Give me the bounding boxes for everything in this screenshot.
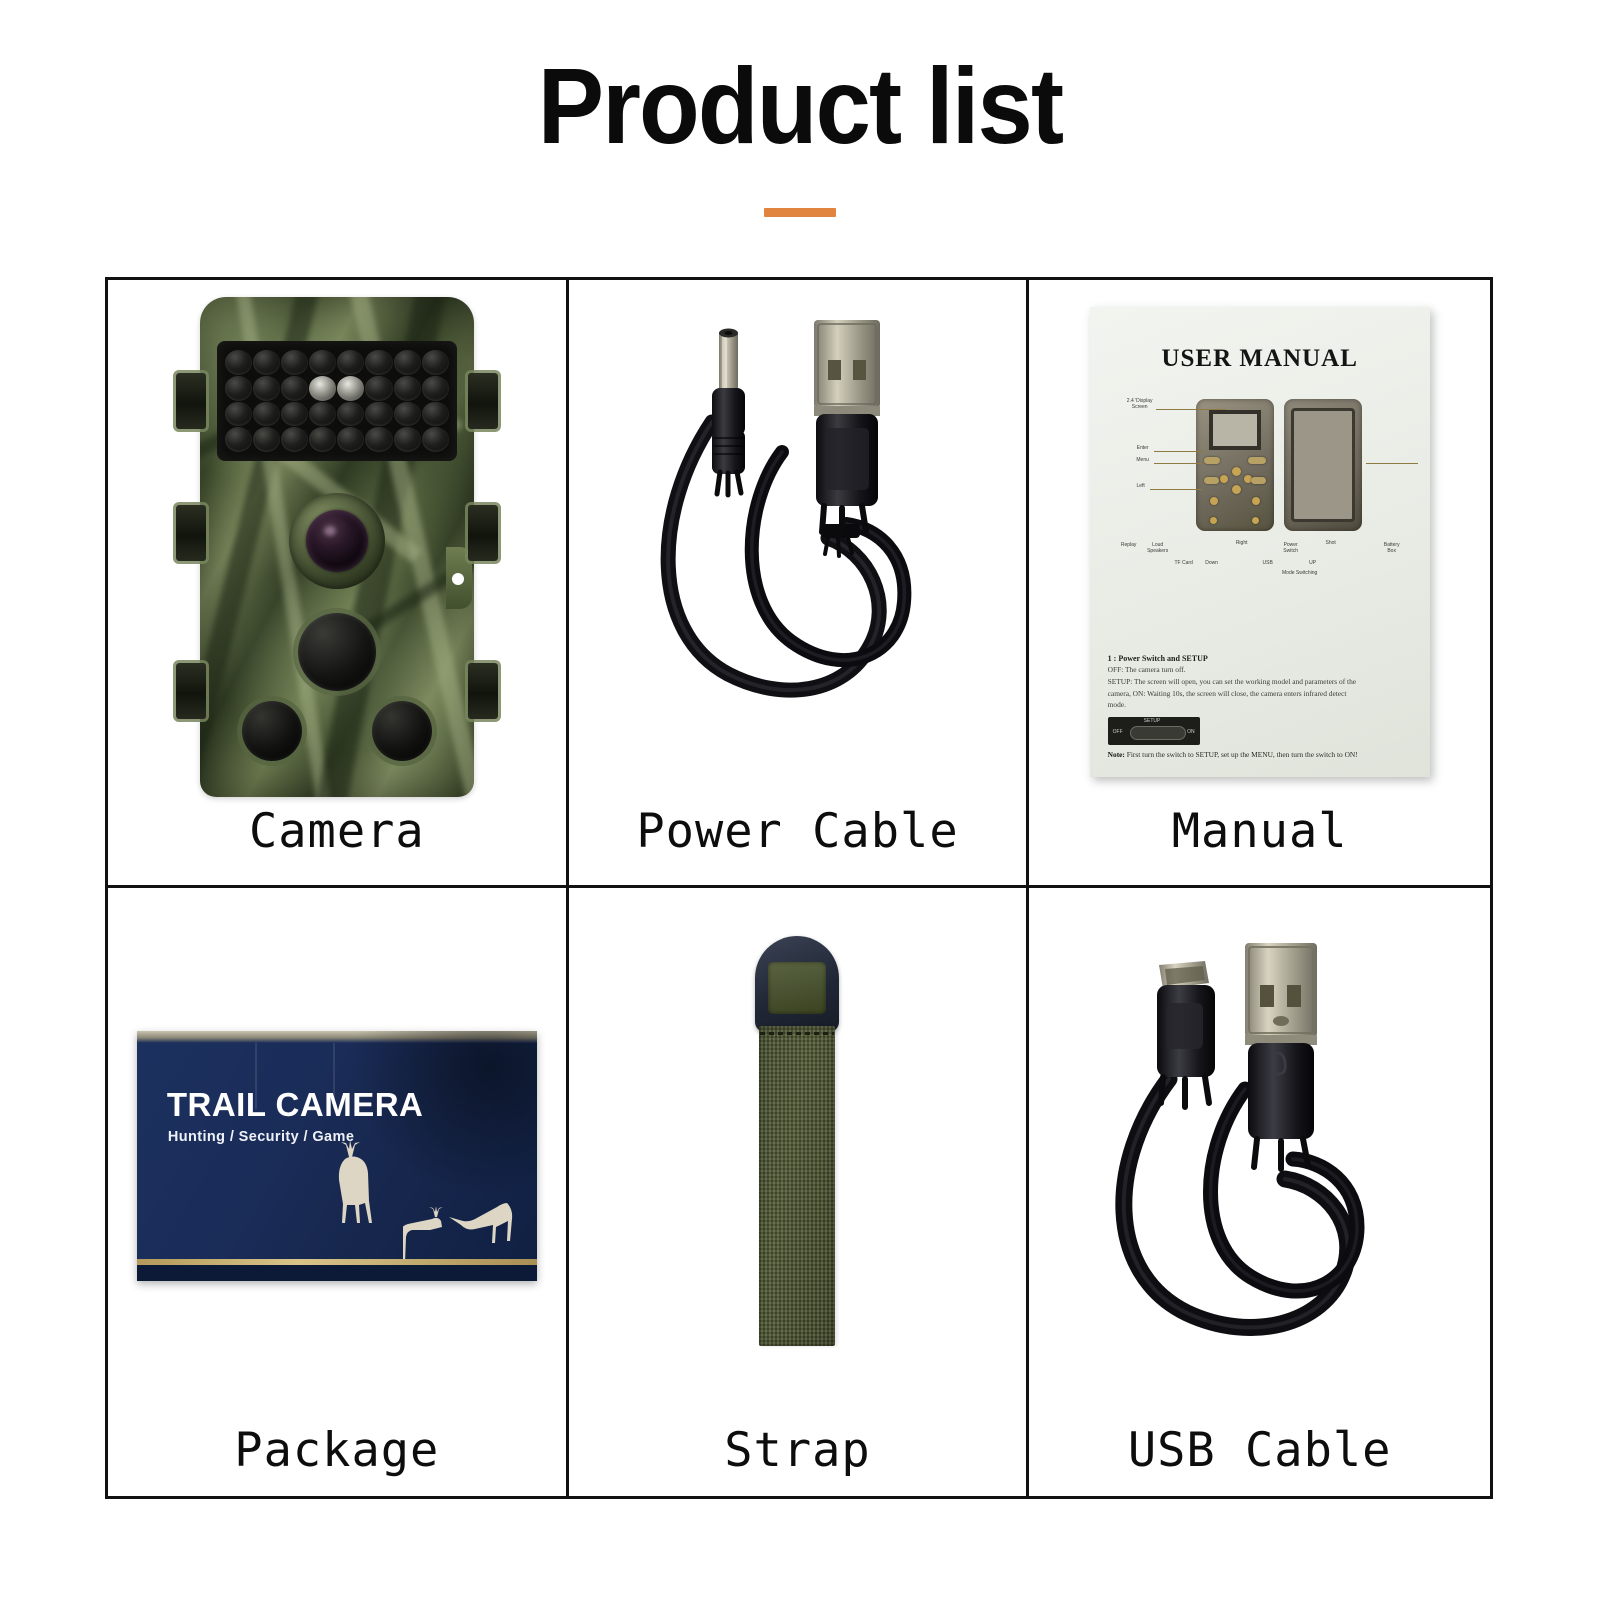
pir-sensor-right <box>372 701 432 761</box>
deer-small-icon <box>403 1207 449 1265</box>
usb-cable-figure <box>1029 888 1490 1423</box>
diagram-screen <box>1209 410 1261 450</box>
product-label-package: Package <box>234 1423 439 1496</box>
callout-screen: 2.4 'Display Screen <box>1120 399 1160 411</box>
callout-usb: USB <box>1258 561 1278 567</box>
dc-barrel-connector <box>712 329 745 496</box>
callout-battery-box: Battery Box <box>1376 543 1408 555</box>
callout-power-switch: Power Switch <box>1276 543 1306 555</box>
manual-note-text: First turn the switch to SETUP, set up t… <box>1127 750 1358 759</box>
camera-lens <box>306 510 368 572</box>
product-label-strap: Strap <box>724 1423 870 1496</box>
strap-buckle <box>755 936 839 1032</box>
strap-tab-left-top <box>176 373 206 429</box>
manual-line-4: mode. <box>1108 700 1412 711</box>
product-label-power-cable: Power Cable <box>636 804 958 885</box>
callout-right: Right <box>1230 541 1254 547</box>
callout-replay: Replay <box>1114 543 1144 549</box>
usb-cable-svg <box>1095 921 1425 1391</box>
product-cell-usb-cable[interactable]: USB Cable <box>1029 888 1490 1496</box>
manual-line-2: SETUP: The screen will open, you can set… <box>1108 677 1412 688</box>
strap-tab-right-mid <box>468 505 498 561</box>
callout-up: UP <box>1304 561 1322 567</box>
manual-switch-diagram: SETUP OFF ON <box>1108 717 1200 745</box>
trail-camera-image <box>172 297 502 797</box>
diagram-camera-unit <box>1196 399 1274 531</box>
pir-sensor-main <box>298 613 376 691</box>
callout-left: Left <box>1130 484 1152 490</box>
product-cell-strap[interactable]: Strap <box>569 888 1030 1496</box>
manual-note-label: Note: <box>1108 750 1125 759</box>
product-label-manual: Manual <box>1172 804 1348 885</box>
ir-sensor-icon <box>337 376 364 401</box>
manual-figure: USER MANUAL <box>1029 280 1490 804</box>
product-label-camera: Camera <box>249 804 425 885</box>
package-figure: TRAIL CAMERA Hunting / Security / Game <box>108 888 566 1423</box>
strap-tab-right-bottom <box>468 663 498 719</box>
switch-track <box>1130 726 1186 740</box>
mounting-strap-image <box>722 936 872 1376</box>
strap-stitching <box>760 1032 834 1035</box>
product-cell-manual[interactable]: USER MANUAL <box>1029 280 1490 888</box>
callout-menu: Menu <box>1130 458 1156 464</box>
manual-title: USER MANUAL <box>1108 345 1412 373</box>
manual-section-heading: 1 : Power Switch and SETUP <box>1108 654 1412 663</box>
callout-down: Down <box>1200 561 1224 567</box>
product-grid: Camera <box>105 277 1493 1499</box>
camera-lens-ring <box>289 493 385 589</box>
box-brand-title: TRAIL CAMERA <box>167 1086 424 1124</box>
manual-note: Note: First turn the switch to SETUP, se… <box>1108 750 1412 759</box>
manual-diagram: 2.4 'Display Screen Enter Menu Left Repl… <box>1108 391 1412 579</box>
camera-figure <box>108 280 566 804</box>
usb-a-connector <box>814 320 880 534</box>
callout-speakers: Loud Speakers <box>1142 543 1174 555</box>
product-cell-package[interactable]: TRAIL CAMERA Hunting / Security / Game P… <box>108 888 569 1496</box>
light-sensor-icon <box>309 376 336 401</box>
camera-body <box>200 297 474 797</box>
power-cable-svg <box>632 302 962 782</box>
title-accent-bar <box>764 208 836 217</box>
deer-grazing-icon <box>447 1197 513 1255</box>
callout-tfcard: TF Card <box>1170 561 1198 567</box>
manual-line-3: camera, ON: Waiting 10s, the screen will… <box>1108 689 1412 700</box>
usb-cable-image <box>1095 921 1425 1391</box>
strap-tab-left-bottom <box>176 663 206 719</box>
product-cell-power-cable[interactable]: Power Cable <box>569 280 1030 888</box>
callout-enter: Enter <box>1130 446 1156 452</box>
switch-label-off: OFF <box>1113 729 1123 735</box>
strap-tab-left-mid <box>176 505 206 561</box>
retail-box-image: TRAIL CAMERA Hunting / Security / Game <box>137 1031 537 1281</box>
diagram-battery-lid <box>1284 399 1362 531</box>
product-cell-camera[interactable]: Camera <box>108 280 569 888</box>
switch-label-setup: SETUP <box>1144 718 1161 724</box>
page-title: Product list <box>64 52 1536 160</box>
strap-webbing <box>759 1026 835 1346</box>
usb-a-connector-2 <box>1245 943 1317 1169</box>
ir-led-array <box>217 341 457 461</box>
strap-tab-right-top <box>468 373 498 429</box>
switch-label-on: ON <box>1187 729 1195 735</box>
box-bottom-edge <box>137 1265 537 1281</box>
user-manual-booklet: USER MANUAL <box>1090 307 1430 777</box>
product-label-usb-cable: USB Cable <box>1128 1423 1392 1496</box>
manual-body-text: 1 : Power Switch and SETUP OFF: The came… <box>1108 654 1412 759</box>
deer-large-icon <box>325 1141 387 1237</box>
page-header: Product list <box>0 0 1600 217</box>
callout-shot: Shot <box>1320 541 1342 547</box>
pir-sensor-left <box>242 701 302 761</box>
callout-mode-switching: Mode Switching <box>1272 571 1328 577</box>
power-cable-image <box>632 302 962 782</box>
power-cable-figure <box>569 280 1027 804</box>
manual-line-1: OFF: The camera turn off. <box>1108 665 1412 676</box>
strap-figure <box>569 888 1027 1423</box>
